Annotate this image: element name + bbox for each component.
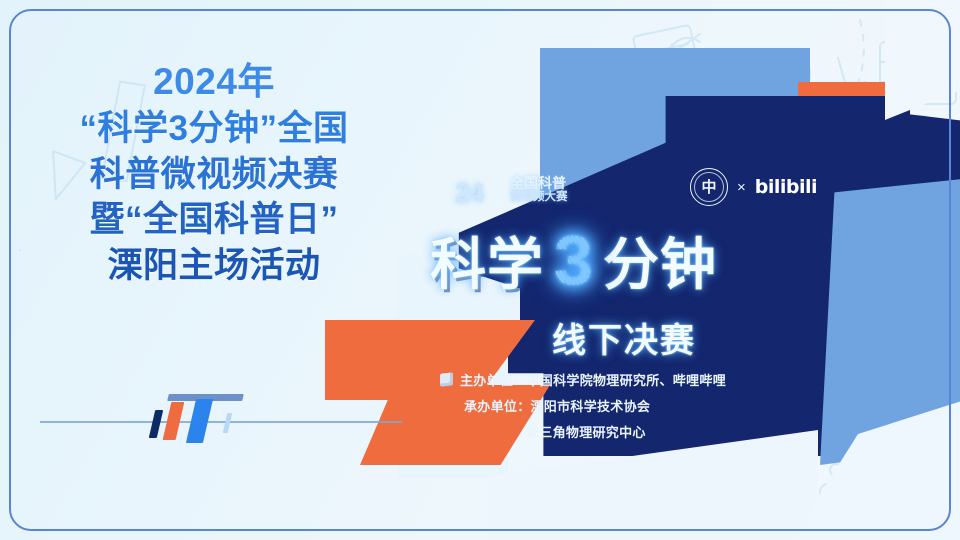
main-title-number: 3 — [554, 220, 593, 300]
organizer-row: 承办单位：溧阳市科学技术协会 — [440, 396, 770, 415]
competition-name-line1: 全国科普 — [510, 176, 568, 191]
event-title-line-2: “科学3分钟”全国 — [26, 106, 402, 152]
organizer-text: 承办单位：溧阳市科学技术协会 — [464, 396, 650, 415]
poster-competition-name: 全国科普 微视频大赛 — [510, 176, 568, 203]
organizer-text: 长三角物理研究中心 — [526, 422, 646, 441]
poster-organizer-block: 主办单位：中国科学院物理研究所、哔哩哔哩 承办单位：溧阳市科学技术协会 长三角物… — [440, 370, 770, 448]
poster-year-label: 24 — [455, 178, 483, 209]
cube-bullet-icon — [440, 372, 453, 386]
event-title-block: 2024年 “科学3分钟”全国 科普微视频决赛 暨“全国科普日” 溧阳主场活动 — [26, 58, 402, 288]
poster-logo-row: 中 × bilibili — [690, 168, 817, 206]
poster-shape-pale-top-right — [885, 0, 960, 120]
poster-subtitle: 线下决赛 — [552, 313, 696, 362]
main-title-left: 科学 — [430, 220, 544, 301]
organizer-text: 主办单位：中国科学院物理研究所、哔哩哔哩 — [460, 370, 726, 389]
decoration-bar-faint — [223, 413, 233, 433]
event-title-line-3: 科普微视频决赛 — [26, 152, 402, 198]
decoration-rule — [40, 421, 402, 423]
bilibili-logo: bilibili — [755, 176, 817, 198]
decoration-bar-navy — [149, 410, 163, 438]
event-title-line-5: 溧阳主场活动 — [26, 243, 402, 289]
seal-label: 中 — [701, 180, 716, 195]
event-title-line-4: 暨“全国科普日” — [26, 197, 402, 243]
organizer-row: 主办单位：中国科学院物理研究所、哔哩哔哩 — [440, 370, 770, 389]
competition-name-line2: 微视频大赛 — [510, 191, 568, 203]
event-title-line-1: 2024年 — [26, 58, 402, 106]
organizer-row: 长三角物理研究中心 — [440, 422, 770, 441]
institute-seal-icon: 中 — [690, 168, 728, 206]
poster-main-title: 科学 3 分钟 — [430, 218, 860, 302]
poster-canvas: 24 全国科普 微视频大赛 科学 3 分钟 线下决赛 主办单位：中国科学院物理研… — [0, 0, 960, 540]
title-decoration-mark — [40, 385, 402, 455]
logo-separator-icon: × — [737, 179, 746, 196]
main-title-right: 分钟 — [603, 220, 717, 301]
